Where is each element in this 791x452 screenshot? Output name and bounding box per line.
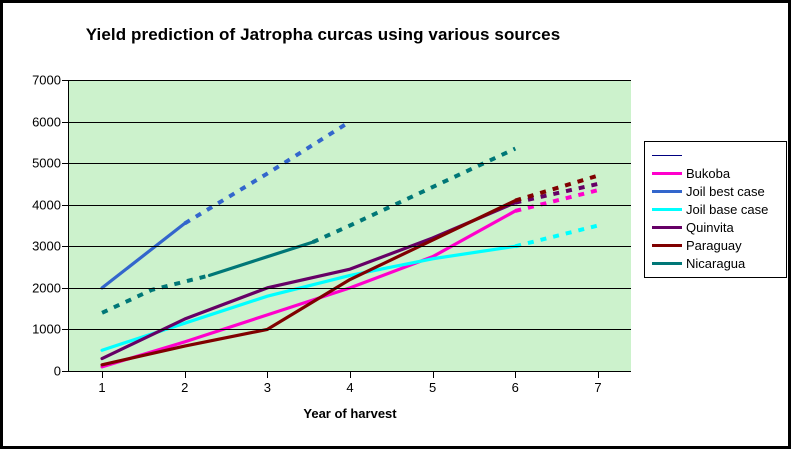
x-axis-label: 4: [346, 380, 353, 395]
series-joil-best-case: [102, 223, 185, 287]
legend-item-joil-base-case[interactable]: Joil base case: [645, 200, 786, 218]
legend-item-label: Nicaragua: [686, 257, 745, 270]
y-axis-label: 1000: [11, 322, 61, 337]
x-axis-label: 6: [512, 380, 519, 395]
y-axis-tick: [62, 288, 69, 289]
legend-line-swatch-icon: [652, 244, 682, 247]
gridline: [69, 122, 631, 123]
legend-item-label: Quinvita: [686, 221, 734, 234]
chart-legend: BukobaJoil best caseJoil base caseQuinvi…: [644, 141, 787, 278]
x-axis-label: 5: [429, 380, 436, 395]
y-axis-label: 0: [11, 364, 61, 379]
series-joil-base-case: [102, 246, 515, 350]
series-joil-base-case-projected: [515, 226, 598, 247]
series-nicaragua-projected: [102, 275, 209, 312]
y-axis-tick: [62, 371, 69, 372]
legend-item-label: Joil best case: [686, 185, 765, 198]
legend-item-nicaragua[interactable]: Nicaragua: [645, 254, 786, 272]
x-axis-label: 1: [98, 380, 105, 395]
x-axis-tick: [267, 372, 268, 378]
legend-line-swatch-icon: [652, 172, 682, 175]
series-paraguay: [102, 201, 515, 365]
y-axis-tick: [62, 163, 69, 164]
gridline: [69, 205, 631, 206]
x-axis-tick: [102, 372, 103, 378]
x-axis-label: 3: [264, 380, 271, 395]
gridline: [69, 80, 631, 81]
series-paraguay-projected: [515, 176, 598, 201]
x-axis-title: Year of harvest: [69, 406, 631, 421]
y-axis-label: 3000: [11, 239, 61, 254]
legend-line-swatch-icon: [652, 155, 682, 156]
y-axis-label: 2000: [11, 280, 61, 295]
legend-item-bukoba[interactable]: Bukoba: [645, 164, 786, 182]
legend-item-label: Joil base case: [686, 203, 768, 216]
x-axis-tick: [515, 372, 516, 378]
plot-area: [69, 80, 631, 371]
series-quinvita: [102, 203, 515, 359]
gridline: [69, 329, 631, 330]
legend-item-unlabeled[interactable]: [645, 146, 786, 164]
x-axis-tick: [598, 372, 599, 378]
x-axis-tick: [433, 372, 434, 378]
y-axis-tick: [62, 246, 69, 247]
y-axis-tick: [62, 122, 69, 123]
gridline: [69, 163, 631, 164]
legend-line-swatch-icon: [652, 226, 682, 229]
series-joil-best-case-projected: [185, 122, 350, 224]
legend-item-joil-best-case[interactable]: Joil best case: [645, 182, 786, 200]
y-axis-label: 4000: [11, 197, 61, 212]
legend-item-quinvita[interactable]: Quinvita: [645, 218, 786, 236]
legend-item-label: Paraguay: [686, 239, 742, 252]
chart-frame: Yield prediction of Jatropha curcas usin…: [0, 0, 791, 449]
series-nicaragua: [210, 242, 313, 275]
legend-line-swatch-icon: [652, 208, 682, 211]
y-axis-label: 6000: [11, 114, 61, 129]
legend-line-swatch-icon: [652, 190, 682, 193]
series-layer: [69, 80, 631, 371]
x-axis-tick: [185, 372, 186, 378]
y-axis-tick: [62, 80, 69, 81]
gridline: [69, 246, 631, 247]
x-axis-tick: [350, 372, 351, 378]
legend-item-label: Bukoba: [686, 167, 730, 180]
legend-item-paraguay[interactable]: Paraguay: [645, 236, 786, 254]
y-axis-label: 7000: [11, 73, 61, 88]
y-axis-tick: [62, 329, 69, 330]
plot-region: 01000200030004000500060007000 1234567 Ye…: [3, 3, 643, 452]
legend-line-swatch-icon: [652, 262, 682, 265]
x-axis-label: 2: [181, 380, 188, 395]
y-axis-label: 5000: [11, 156, 61, 171]
x-axis-label: 7: [594, 380, 601, 395]
gridline: [69, 288, 631, 289]
y-axis-tick: [62, 205, 69, 206]
